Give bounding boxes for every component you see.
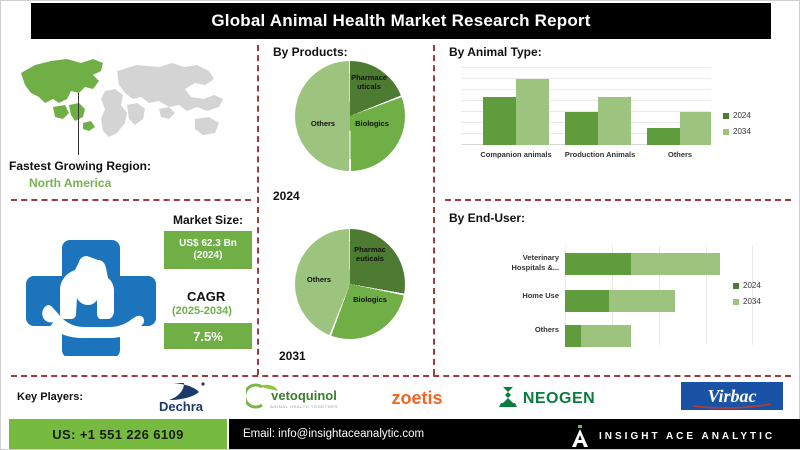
bar-companion-2024 <box>483 97 516 145</box>
pie-2031-label-biologics: Biologics <box>349 295 391 304</box>
animal-type-category-production: Production Animals <box>555 150 645 159</box>
svg-text:NEOGEN: NEOGEN <box>523 390 595 407</box>
legend-label-2034: 2034 <box>733 127 751 136</box>
pie-2024-label-biologics: Biologics <box>351 119 393 128</box>
bar-others-2034 <box>680 112 711 145</box>
hbar-homeuse-2034 <box>609 290 675 312</box>
pie-2024-label-pharmaceuticals: Pharmaceuticals <box>345 73 393 92</box>
fastest-growing-region-value: North America <box>29 176 111 190</box>
brand-name: INSIGHT ACE ANALYTIC <box>599 431 775 442</box>
pie-2031-label-others: Others <box>301 275 337 284</box>
animal-type-plot <box>461 67 711 145</box>
market-size-value: US$ 62.3 Bn <box>179 238 237 251</box>
hbar-others-2024 <box>565 325 581 347</box>
hbar-others-2034 <box>581 325 631 347</box>
enduser-legend-label-2034: 2034 <box>743 297 761 306</box>
pie-2024-year: 2024 <box>273 189 300 203</box>
divider-vertical-right <box>433 45 435 375</box>
logo-zoetis: zoetis <box>369 385 465 411</box>
legend-label-2024: 2024 <box>733 111 751 120</box>
hbar-homeuse-2024 <box>565 290 609 312</box>
header-bar: Global Animal Health Market Research Rep… <box>31 3 771 39</box>
market-size-label: Market Size: <box>173 213 243 227</box>
enduser-category-homeuse: Home Use <box>461 291 559 301</box>
enduser-legend-item-2034: 2034 <box>733 297 761 306</box>
divider-vertical-left <box>257 45 259 375</box>
animal-type-section-title: By Animal Type: <box>449 45 542 59</box>
fastest-growing-region-label: Fastest Growing Region: <box>9 159 151 173</box>
hbar-veterinary-2024 <box>565 253 631 275</box>
animal-type-category-companion: Companion animals <box>469 150 563 159</box>
divider-horizontal-bottom <box>11 375 791 377</box>
veterinary-care-icon <box>26 236 156 356</box>
infographic-page: Global Animal Health Market Research Rep… <box>0 0 800 450</box>
enduser-legend-label-2024: 2024 <box>743 281 761 290</box>
pie-2024-label-others: Others <box>305 119 341 128</box>
map-leader-line <box>78 93 79 155</box>
brand-logo: INSIGHT ACE ANALYTIC <box>571 425 775 447</box>
key-players-label: Key Players: <box>17 391 83 403</box>
legend-swatch-2034 <box>723 129 729 135</box>
cagr-years: (2025-2034) <box>172 305 232 317</box>
bar-companion-2034 <box>516 79 549 145</box>
divider-horizontal-right <box>445 199 791 201</box>
pie-2031-year: 2031 <box>279 349 306 363</box>
legend-item-2034: 2034 <box>723 127 751 136</box>
enduser-category-veterinary: VeterinaryHospitals &... <box>461 253 559 273</box>
enduser-legend-swatch-2034 <box>733 299 739 305</box>
svg-text:ANIMAL HEALTH TOGETHER: ANIMAL HEALTH TOGETHER <box>270 404 338 409</box>
animal-type-category-others: Others <box>649 150 711 159</box>
insight-ace-a-icon <box>571 425 589 447</box>
logo-vetoquinol: vetoquinol ANIMAL HEALTH TOGETHER <box>246 383 358 413</box>
cagr-label: CAGR <box>187 289 225 304</box>
cagr-value-badge: 7.5% <box>164 323 252 349</box>
enduser-plot <box>565 245 753 345</box>
bar-production-2024 <box>565 112 598 145</box>
market-size-year: (2024) <box>194 250 223 263</box>
pie-2031-label-pharmaceuticals: Pharmaceuticals <box>347 245 393 264</box>
email-address[interactable]: Email: info@insightaceanalytic.com <box>243 428 424 440</box>
enduser-legend: 2024 2034 <box>733 281 761 313</box>
animal-type-legend: 2024 2034 <box>723 111 751 143</box>
logo-neogen: NEOGEN <box>493 384 601 410</box>
animal-type-chart: Companion animals Production Animals Oth… <box>461 67 791 162</box>
phone-number: US: +1 551 226 6109 <box>52 427 184 442</box>
enduser-chart: VeterinaryHospitals &... Home Use Others… <box>461 237 791 347</box>
market-size-badge: US$ 62.3 Bn (2024) <box>164 231 252 269</box>
world-map <box>9 47 241 157</box>
enduser-category-others: Others <box>461 325 559 335</box>
enduser-legend-swatch-2024 <box>733 283 739 289</box>
divider-horizontal-left <box>11 199 251 201</box>
bar-production-2034 <box>598 97 631 145</box>
logo-virbac: Virbac <box>681 382 783 410</box>
logo-dechra: Dechra <box>131 381 231 413</box>
legend-swatch-2024 <box>723 113 729 119</box>
enduser-section-title: By End-User: <box>449 211 525 225</box>
svg-text:Virbac: Virbac <box>707 386 756 406</box>
svg-text:zoetis: zoetis <box>391 388 442 408</box>
phone-bar[interactable]: US: +1 551 226 6109 <box>9 419 227 449</box>
enduser-legend-item-2024: 2024 <box>733 281 761 290</box>
svg-text:Dechra: Dechra <box>159 399 204 413</box>
page-title: Global Animal Health Market Research Rep… <box>211 11 590 31</box>
bar-others-2024 <box>647 128 680 145</box>
legend-item-2024: 2024 <box>723 111 751 120</box>
hbar-veterinary-2034 <box>631 253 720 275</box>
products-section-title: By Products: <box>273 45 348 59</box>
svg-text:vetoquinol: vetoquinol <box>271 388 337 403</box>
